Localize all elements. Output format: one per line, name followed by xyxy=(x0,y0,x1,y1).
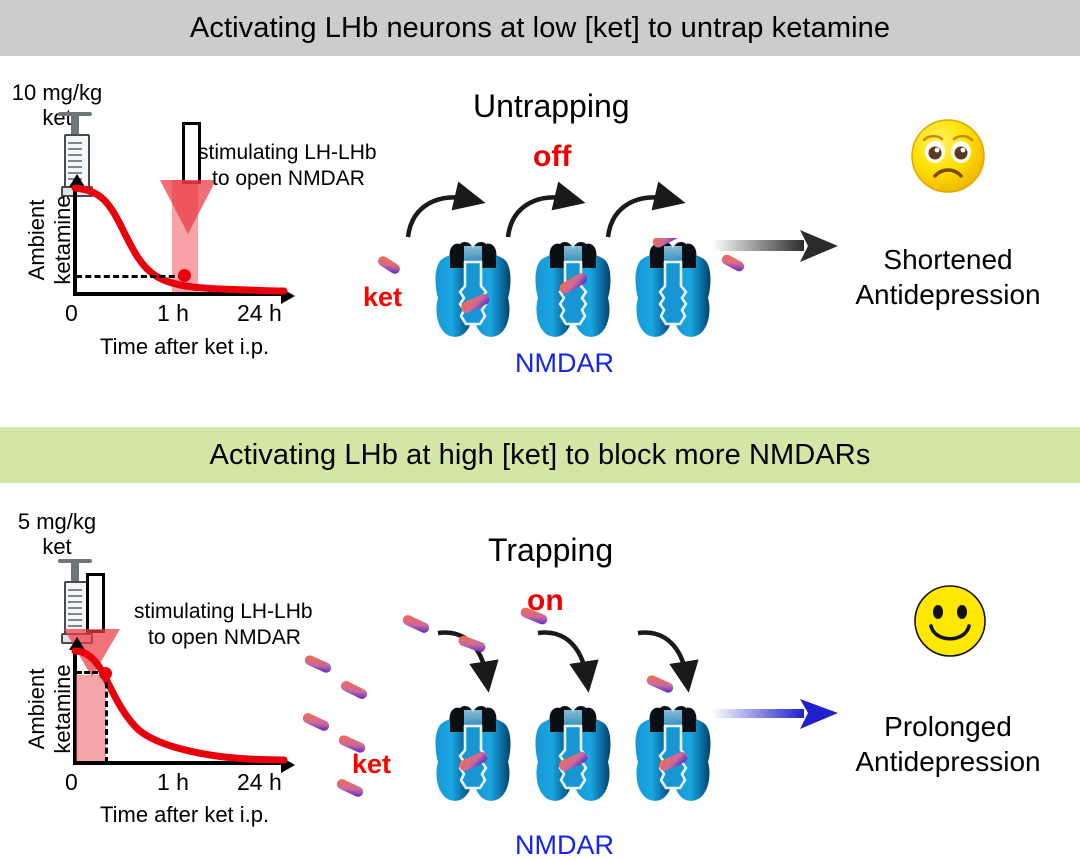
ketamine-molecule-icon xyxy=(374,250,404,280)
stimulation-note-line1: stimulating LH-LHb xyxy=(134,599,313,625)
x-tick-1h: 1 h xyxy=(157,300,189,327)
stimulation-marker xyxy=(99,667,112,680)
stimulation-note-line2: to open NMDAR xyxy=(212,166,365,192)
threshold-dashed-line xyxy=(76,275,184,278)
y-axis-label-line1: Ambient xyxy=(24,647,50,771)
stimulation-time-dashed-line xyxy=(105,673,108,763)
nmdar-receptor xyxy=(630,238,716,342)
x-tick-0: 0 xyxy=(65,769,78,796)
ket-label: ket xyxy=(363,282,402,313)
mechanism-title: Trapping xyxy=(488,532,613,569)
nmdar-receptor xyxy=(530,702,616,806)
nmdar-label: NMDAR xyxy=(515,348,614,379)
outcome-text-line2: Antidepression xyxy=(832,744,1064,779)
x-tick-24h: 24 h xyxy=(237,769,282,796)
outcome-arrow-gray xyxy=(712,218,842,280)
nmdar-receptor xyxy=(630,702,716,806)
stimulation-note-line1: stimulating LH-LHb xyxy=(198,140,377,166)
outcome-text-line2: Antidepression xyxy=(832,277,1064,312)
outcome-text-line1: Prolonged xyxy=(832,709,1064,744)
panel-high-ket: Activating LHb at high [ket] to block mo… xyxy=(0,427,1080,860)
outcome-text-line1: Shortened xyxy=(832,242,1064,277)
nmdar-label: NMDAR xyxy=(515,830,614,861)
outcome-arrow-blue xyxy=(712,685,842,747)
ket-label: ket xyxy=(352,749,391,780)
stimulation-note-line2: to open NMDAR xyxy=(148,625,301,651)
nmdar-receptor xyxy=(430,238,516,342)
x-tick-0: 0 xyxy=(65,300,78,327)
stimulation-marker xyxy=(178,269,191,282)
outcome-text: Prolonged Antidepression xyxy=(832,709,1064,779)
mechanism-title: Untrapping xyxy=(473,88,630,125)
x-axis-caption: Time after ket i.p. xyxy=(100,802,269,828)
y-axis-label-line1: Ambient xyxy=(24,180,50,300)
outcome-text: Shortened Antidepression xyxy=(832,242,1064,312)
x-axis-caption: Time after ket i.p. xyxy=(100,334,269,360)
nmdar-receptor xyxy=(430,702,516,806)
nmdar-receptor xyxy=(530,238,616,342)
y-axis-label-line2: ketamine xyxy=(50,180,76,300)
x-tick-24h: 24 h xyxy=(237,300,282,327)
x-tick-1h: 1 h xyxy=(157,769,189,796)
panel-low-ket: Activating LHb neurons at low [ket] to u… xyxy=(0,0,1080,420)
smiling-face-emoji xyxy=(914,585,986,657)
pleading-sad-face-emoji xyxy=(910,118,986,194)
y-axis-label-line2: ketamine xyxy=(50,647,76,771)
mechanism-state-badge: off xyxy=(533,140,571,174)
